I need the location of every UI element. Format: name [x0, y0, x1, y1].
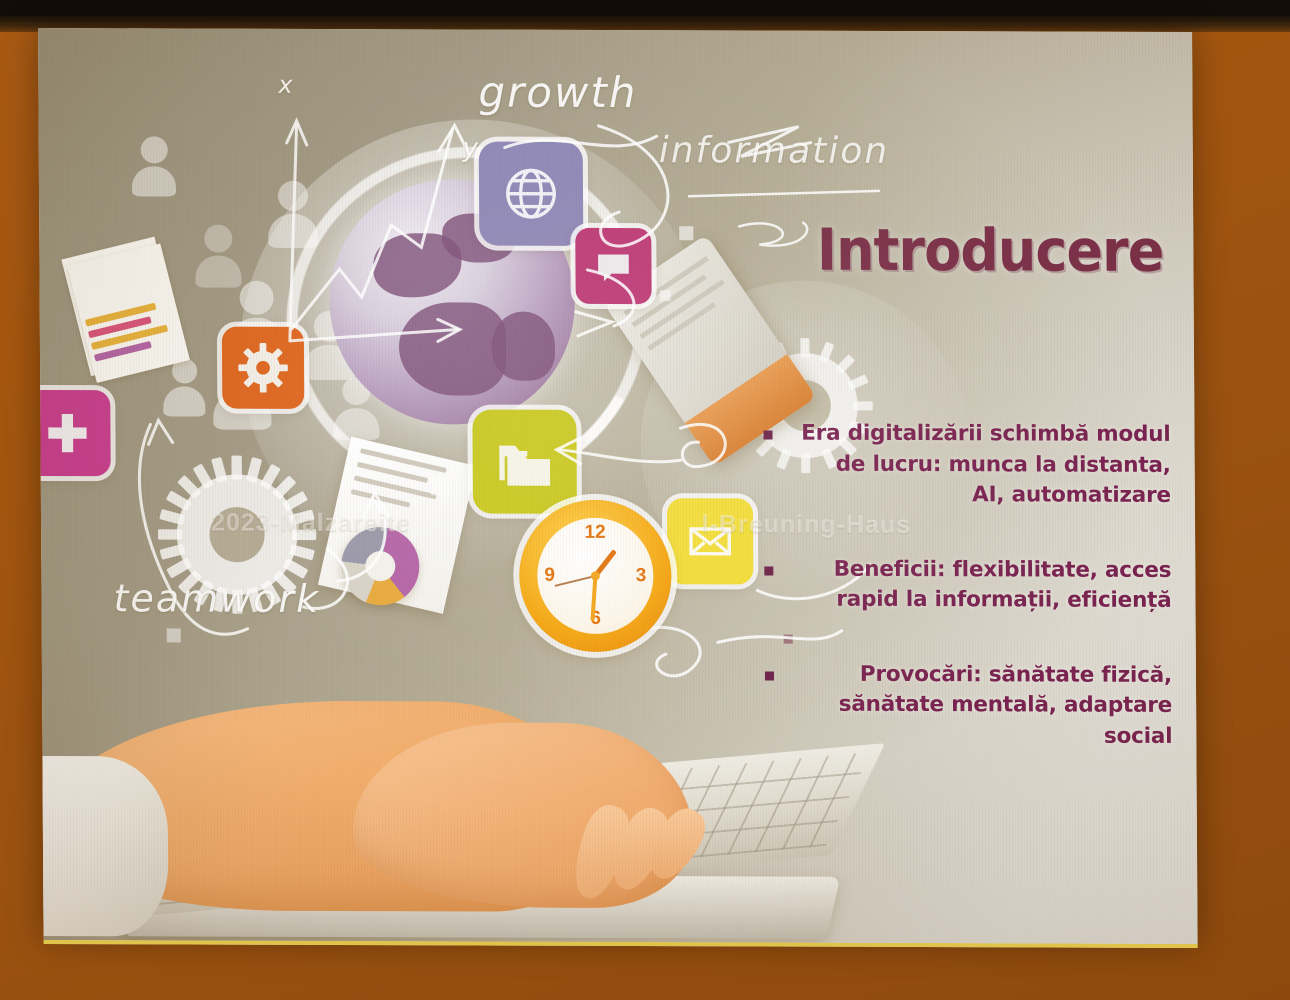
bullet-text: Provocări: sănătate fizică, sănătate men…	[800, 659, 1173, 752]
slide-text-column: Introducere Era digitalizării schimbă mo…	[739, 220, 1172, 786]
shirt-cuff	[38, 756, 169, 937]
teamwork-handwriting: teamwork	[113, 576, 320, 621]
clock-numeral-9: 9	[544, 565, 555, 587]
projection-surface: 12 3 6 9 x y growth information teamwork	[38, 28, 1198, 948]
decor-square	[431, 477, 449, 495]
bullet-marker-icon	[764, 566, 773, 575]
bullet-marker-icon	[763, 431, 772, 440]
y-axis-label-handwriting: y	[463, 133, 481, 163]
clock-numeral-12: 12	[584, 522, 605, 544]
plus-tile-icon	[38, 390, 111, 476]
growth-handwriting: growth	[478, 68, 637, 118]
bullet-text: Era digitalizării schimbă modul de lucru…	[798, 419, 1171, 512]
paper-stack	[61, 237, 186, 384]
bullet-text: Beneficii: flexibilitate, acces rapid la…	[799, 554, 1171, 616]
person-silhouette	[131, 136, 177, 198]
clock-second-hand	[554, 575, 595, 587]
decor-square	[660, 290, 671, 301]
laptop-and-hands-photo	[38, 616, 854, 948]
clock-center-pin	[591, 571, 600, 580]
information-handwriting: information	[659, 130, 890, 172]
bullet-list: Era digitalizării schimbă modul de lucru…	[740, 418, 1172, 752]
decor-square	[679, 226, 693, 240]
list-item: Beneficii: flexibilitate, acces rapid la…	[741, 554, 1171, 617]
folder-tile-icon	[472, 410, 577, 514]
projection-screen: 12 3 6 9 x y growth information teamwork	[38, 28, 1198, 944]
conference-room-scene: 12 3 6 9 x y growth information teamwork	[0, 0, 1290, 1000]
settings-gear-tile-icon	[222, 327, 305, 409]
list-item: Era digitalizării schimbă modul de lucru…	[740, 418, 1171, 511]
person-silhouette	[162, 358, 206, 418]
list-item: Provocări: sănătate fizică, sănătate men…	[742, 659, 1173, 752]
page-title: Introducere	[769, 221, 1164, 280]
globe-tile-icon	[479, 142, 584, 246]
clock-numeral-3: 3	[636, 565, 647, 587]
bullet-marker-icon	[765, 671, 774, 680]
presentation-slide: 12 3 6 9 x y growth information teamwork	[38, 28, 1198, 944]
x-axis-label-handwriting: x	[278, 71, 294, 99]
chat-bubble-tile-icon	[575, 228, 651, 304]
